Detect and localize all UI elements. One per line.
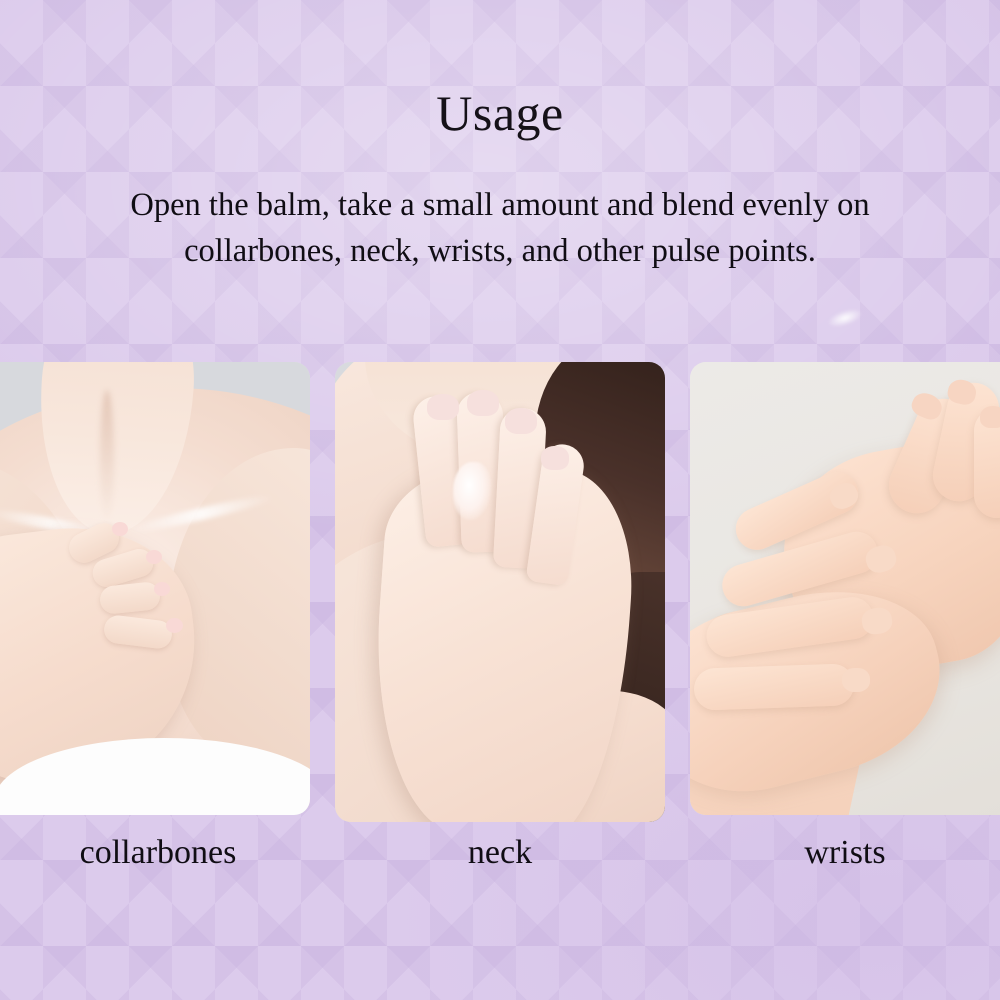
photo-collarbones-image (0, 362, 310, 815)
caption-neck: neck (335, 836, 665, 870)
caption-row: collarbones neck wrists (0, 836, 1000, 896)
usage-panel: Usage Open the balm, take a small amount… (0, 0, 1000, 1000)
header: Usage Open the balm, take a small amount… (0, 0, 1000, 274)
photo-card-neck (335, 362, 665, 822)
photo-card-wrists (690, 362, 1000, 815)
usage-description: Open the balm, take a small amount and b… (95, 182, 905, 274)
photo-wrists-image (690, 362, 1000, 815)
usage-image-strip (0, 362, 1000, 824)
photo-card-collarbones (0, 362, 310, 815)
photo-neck-image (335, 362, 665, 822)
caption-collarbones: collarbones (0, 836, 316, 870)
caption-wrists: wrists (690, 836, 1000, 870)
page-title: Usage (0, 88, 1000, 138)
